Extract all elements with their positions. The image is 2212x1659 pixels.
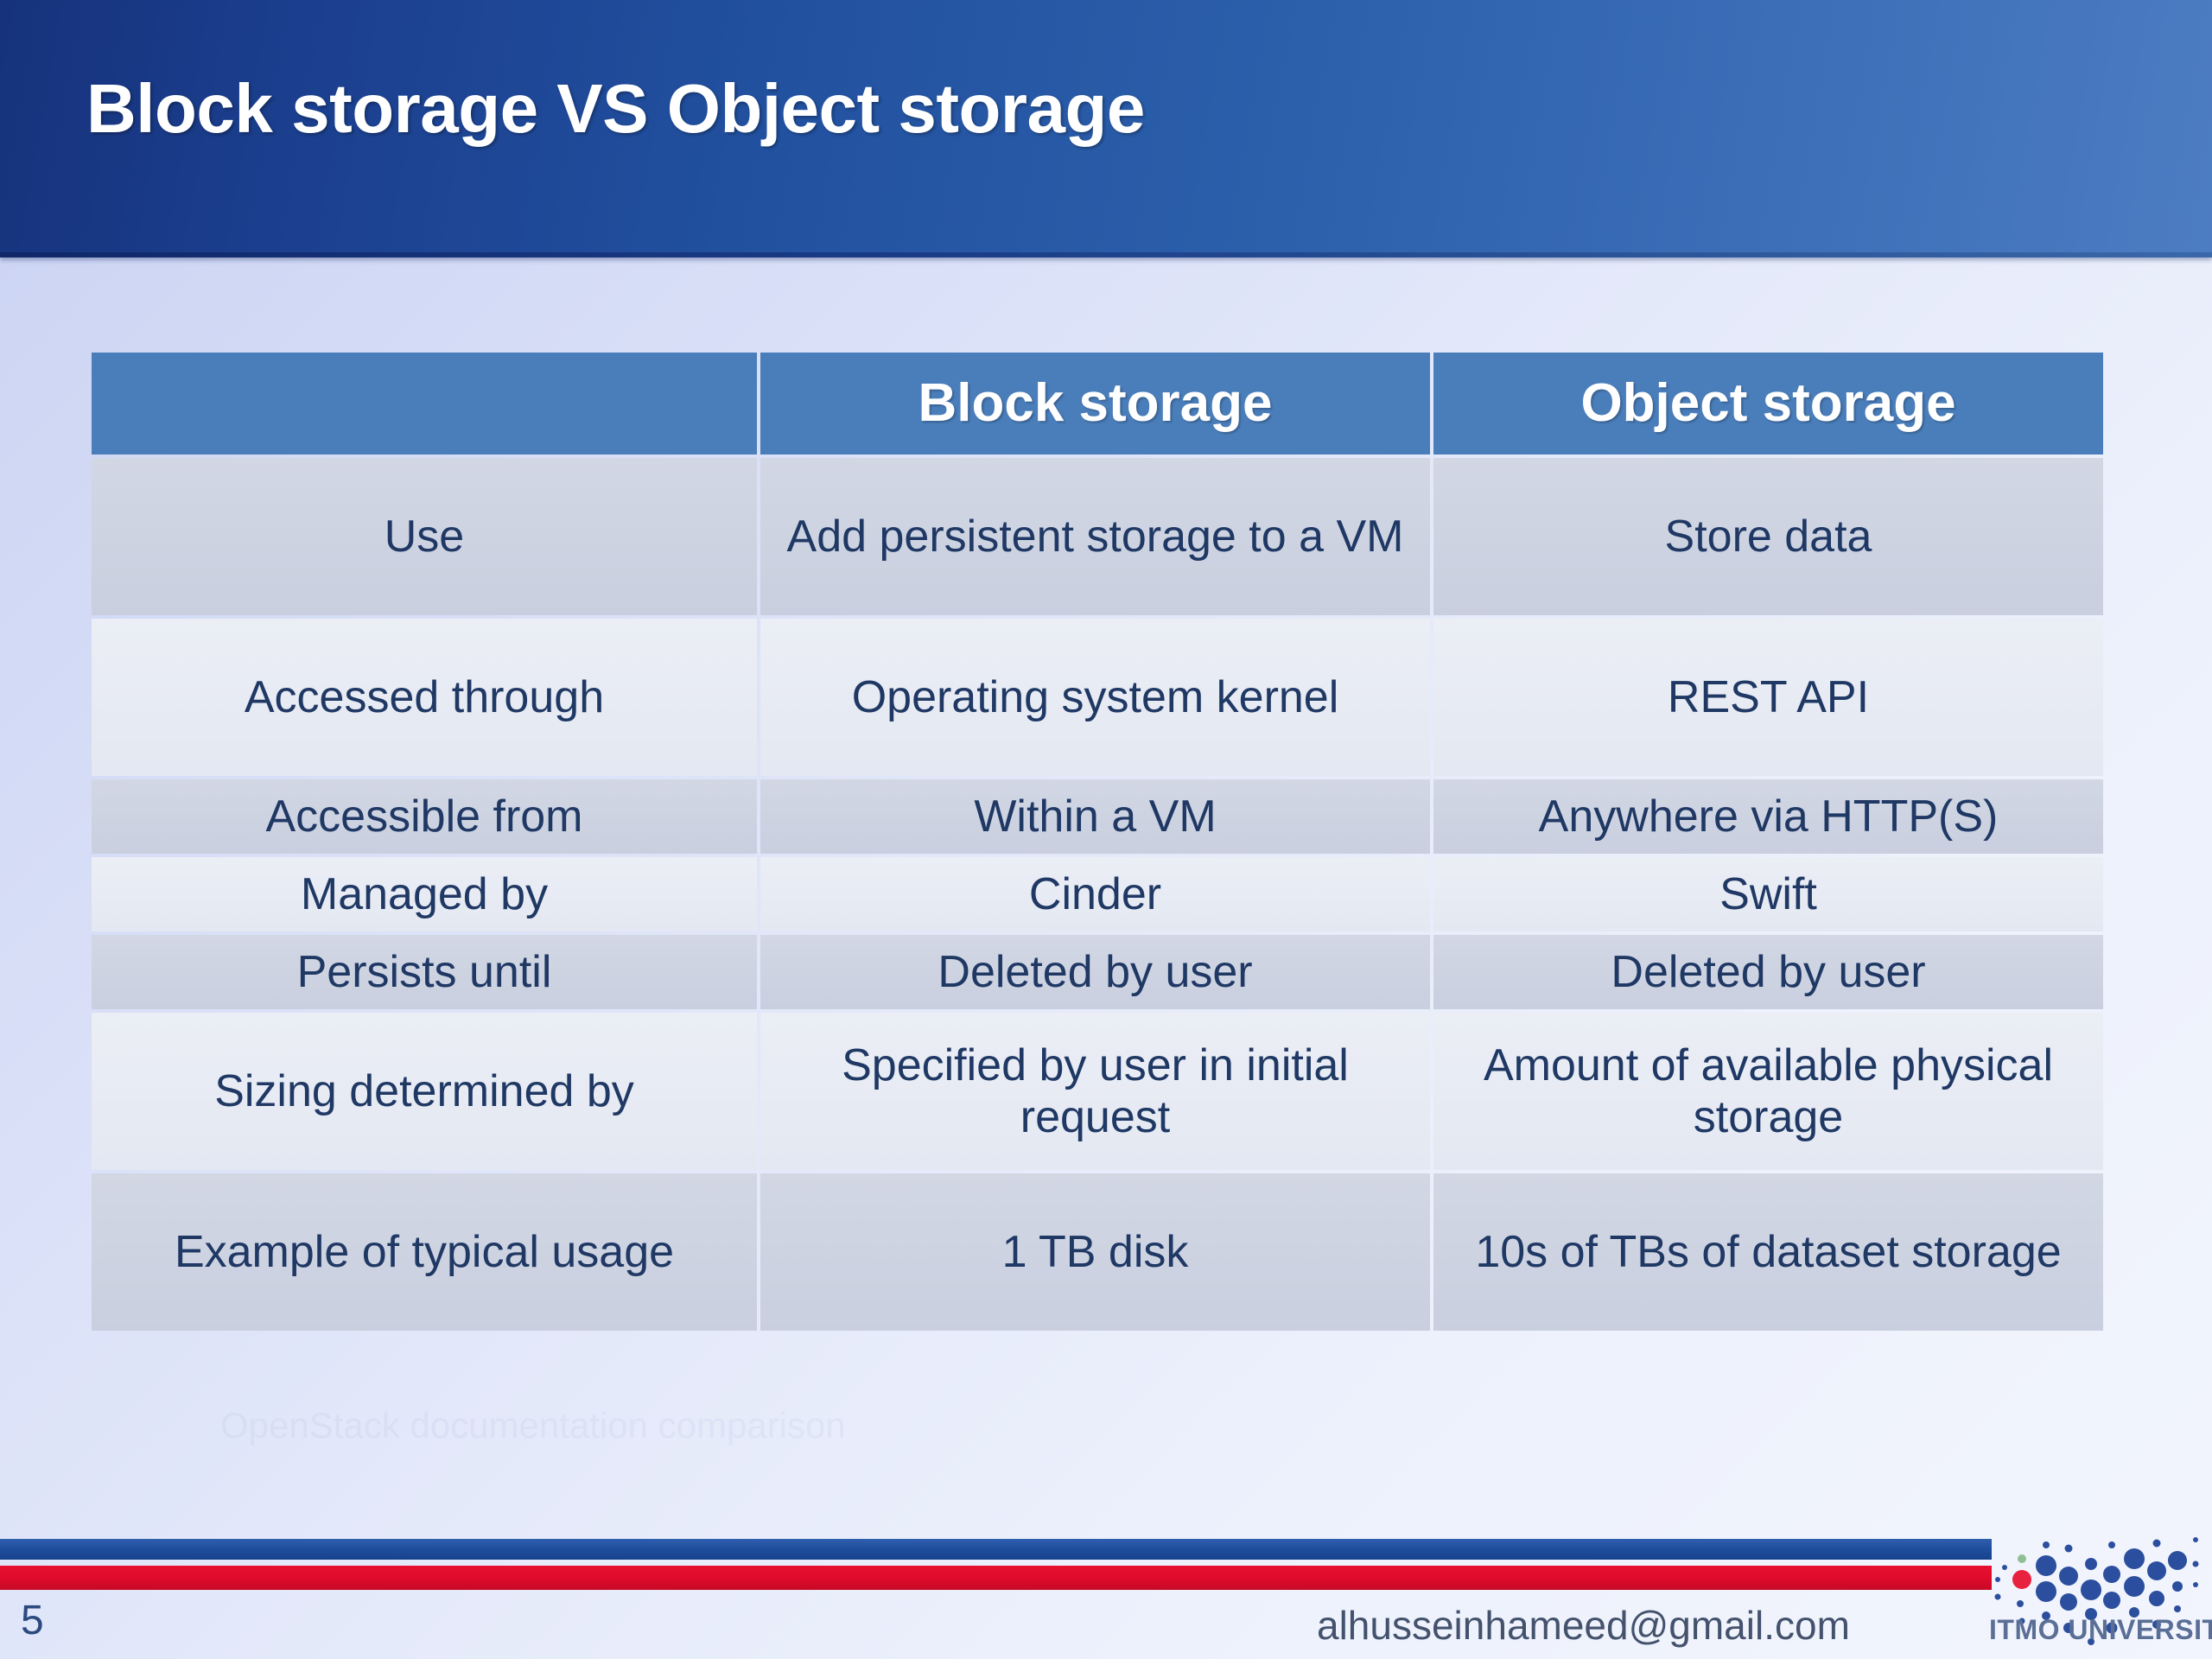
page-title: Block storage VS Object storage bbox=[86, 73, 1145, 146]
row-block-storage-cell: Add persistent storage to a VM bbox=[760, 458, 1430, 615]
row-block-storage-cell: Operating system kernel bbox=[760, 619, 1430, 776]
row-object-storage-cell: Swift bbox=[1433, 857, 2103, 931]
row-label-cell: Accessed through bbox=[92, 619, 757, 776]
table-header-object-storage: Object storage bbox=[1433, 353, 2103, 454]
comparison-table: Block storage Object storage UseAdd pers… bbox=[88, 349, 2107, 1334]
row-label-cell: Persists until bbox=[92, 935, 757, 1009]
table-row: Accessed throughOperating system kernelR… bbox=[92, 619, 2103, 776]
row-block-storage-cell: Within a VM bbox=[760, 779, 1430, 854]
table-row: Sizing determined bySpecified by user in… bbox=[92, 1013, 2103, 1170]
row-block-storage-cell: Deleted by user bbox=[760, 935, 1430, 1009]
row-label-cell: Accessible from bbox=[92, 779, 757, 854]
footer-blue-bar bbox=[0, 1539, 1992, 1560]
background-ghost-text: OpenStack documentation comparison bbox=[220, 1405, 846, 1446]
row-object-storage-cell: Store data bbox=[1433, 458, 2103, 615]
row-block-storage-cell: Cinder bbox=[760, 857, 1430, 931]
row-label-cell: Managed by bbox=[92, 857, 757, 931]
table-row: Managed byCinderSwift bbox=[92, 857, 2103, 931]
row-object-storage-cell: Deleted by user bbox=[1433, 935, 2103, 1009]
row-label-cell: Example of typical usage bbox=[92, 1173, 757, 1331]
table-row: Example of typical usage1 TB disk10s of … bbox=[92, 1173, 2103, 1331]
title-band: Block storage VS Object storage bbox=[0, 0, 2212, 257]
table-row: Persists untilDeleted by userDeleted by … bbox=[92, 935, 2103, 1009]
row-object-storage-cell: Anywhere via HTTP(S) bbox=[1433, 779, 2103, 854]
table-header-block-storage: Block storage bbox=[760, 353, 1430, 454]
page-number: 5 bbox=[21, 1597, 44, 1644]
slide-canvas: Block storage VS Object storage Block st… bbox=[0, 0, 2212, 1659]
table-header-corner bbox=[92, 353, 757, 454]
row-block-storage-cell: 1 TB disk bbox=[760, 1173, 1430, 1331]
row-label-cell: Use bbox=[92, 458, 757, 615]
contact-email: alhusseinhameed@gmail.com bbox=[1317, 1602, 1850, 1649]
row-object-storage-cell: REST API bbox=[1433, 619, 2103, 776]
table-head: Block storage Object storage bbox=[92, 353, 2103, 454]
row-object-storage-cell: Amount of available physical storage bbox=[1433, 1013, 2103, 1170]
table-header-row: Block storage Object storage bbox=[92, 353, 2103, 454]
table-row: UseAdd persistent storage to a VMStore d… bbox=[92, 458, 2103, 615]
row-block-storage-cell: Specified by user in initial request bbox=[760, 1013, 1430, 1170]
itmo-wordmark: ITMO UNIVERSITY bbox=[1989, 1614, 2212, 1646]
footer-red-bar bbox=[0, 1566, 1992, 1590]
table-body: UseAdd persistent storage to a VMStore d… bbox=[92, 458, 2103, 1331]
table-row: Accessible fromWithin a VMAnywhere via H… bbox=[92, 779, 2103, 854]
row-label-cell: Sizing determined by bbox=[92, 1013, 757, 1170]
row-object-storage-cell: 10s of TBs of dataset storage bbox=[1433, 1173, 2103, 1331]
